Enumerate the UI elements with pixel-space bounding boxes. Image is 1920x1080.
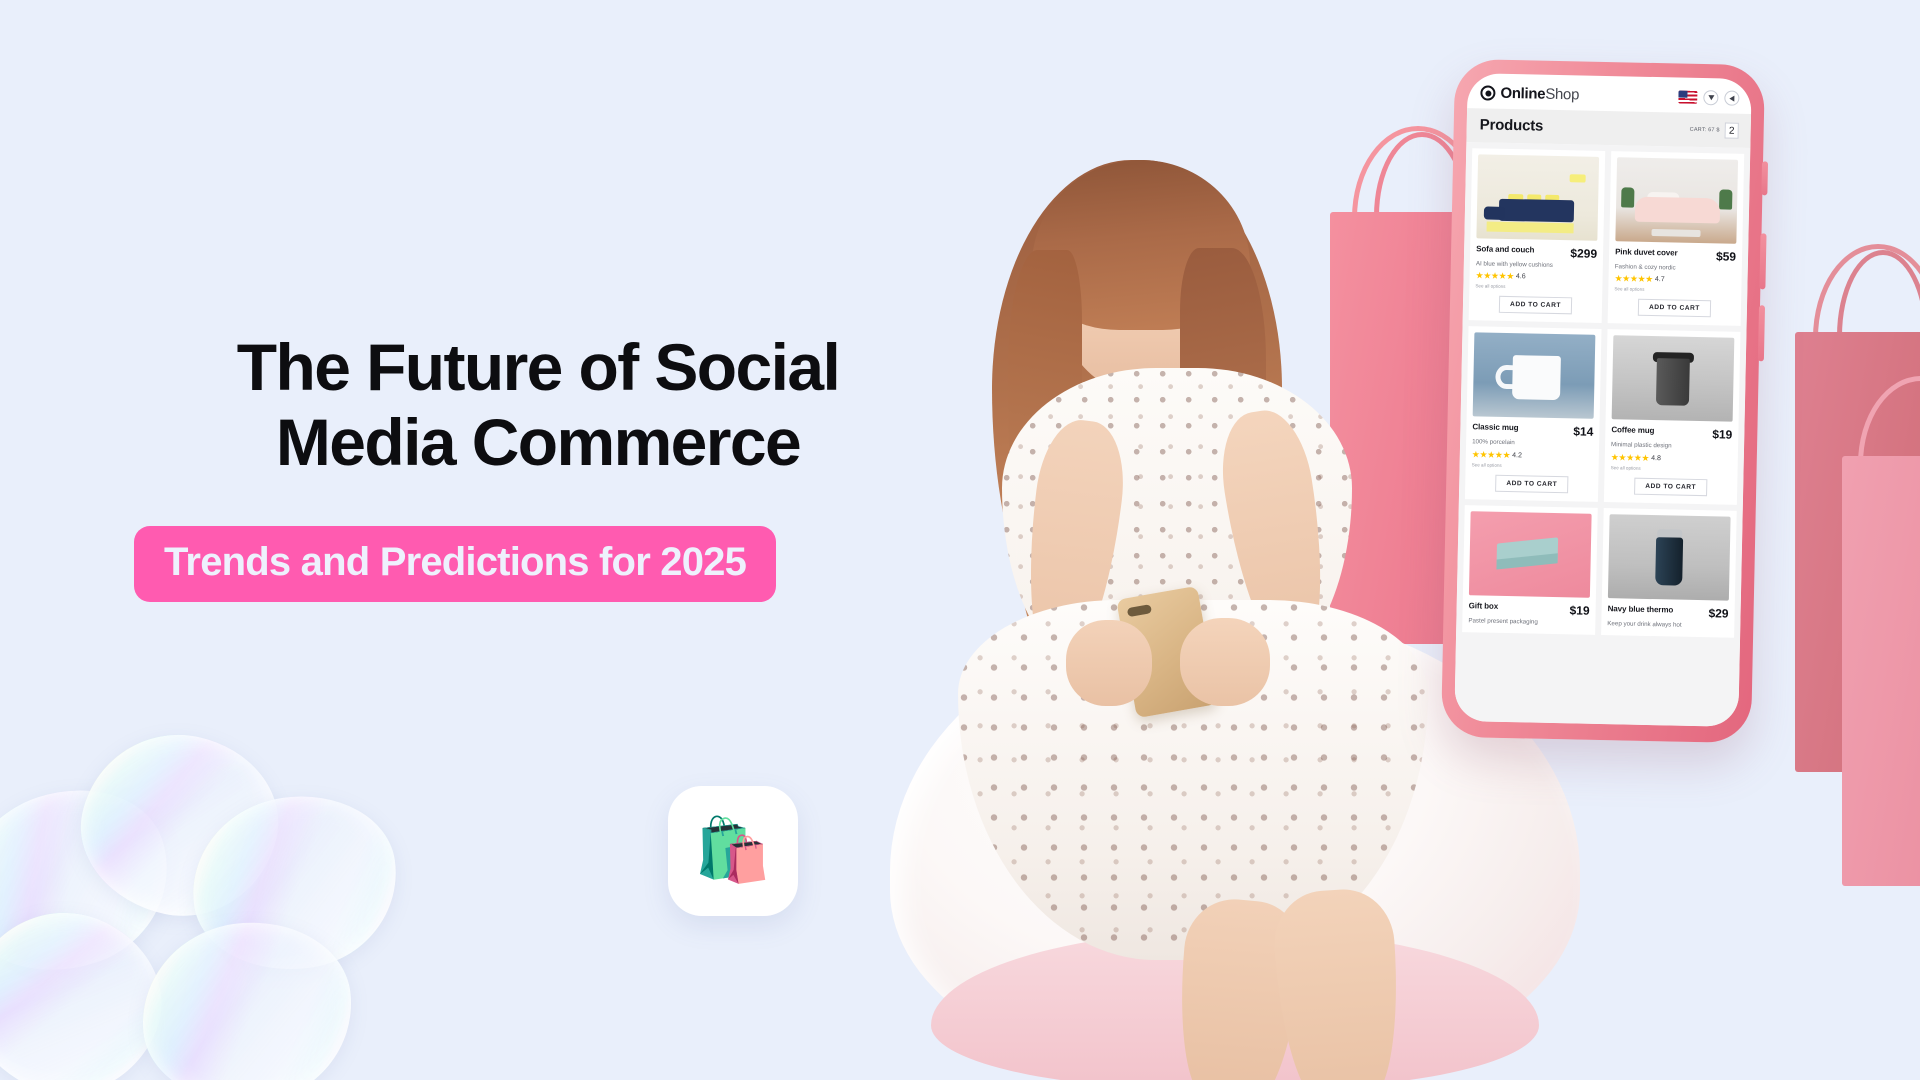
phone-mockup: OnlineShop Products CART: 67 $ 2 [1441, 59, 1765, 743]
product-card[interactable]: Navy blue thermo $29 Keep your drink alw… [1601, 508, 1737, 638]
product-reviews-link[interactable]: See all options [1611, 465, 1732, 473]
phone-mute-button[interactable] [1761, 161, 1768, 195]
product-description: Fashion & cozy nordic [1615, 263, 1736, 273]
rating-value: 4.8 [1651, 455, 1661, 462]
cart-count-badge: 2 [1725, 122, 1739, 138]
add-to-cart-button[interactable]: ADD TO CART [1499, 296, 1572, 315]
phone-camera [1127, 604, 1152, 617]
product-image [1476, 154, 1599, 241]
add-to-cart-button[interactable]: ADD TO CART [1495, 475, 1568, 494]
phone-volume-up-button[interactable] [1759, 233, 1766, 289]
product-card[interactable]: Sofa and couch $299 AI blue with yellow … [1469, 148, 1606, 323]
star-rating-icon: ★★★★★ [1475, 271, 1514, 283]
product-description: Minimal plastic design [1611, 442, 1732, 452]
product-description: Keep your drink always hot [1607, 620, 1728, 630]
product-rating: ★★★★★ 4.8 [1611, 452, 1732, 466]
rating-value: 4.7 [1655, 276, 1665, 283]
brand-name-bold: Online [1500, 85, 1545, 103]
product-card[interactable]: Gift box $19 Pastel present packaging [1462, 505, 1598, 635]
phone-screen: OnlineShop Products CART: 67 $ 2 [1454, 73, 1752, 727]
product-rating: ★★★★★ 4.2 [1472, 449, 1593, 463]
product-price: $19 [1712, 428, 1732, 442]
right-leg [1271, 886, 1405, 1080]
app-header-actions [1678, 90, 1739, 106]
star-rating-icon: ★★★★★ [1614, 274, 1653, 286]
rating-value: 4.6 [1516, 274, 1526, 281]
products-heading: Products [1480, 116, 1544, 134]
circle-dot-icon [1480, 85, 1495, 100]
product-card[interactable]: Pink duvet cover $59 Fashion & cozy nord… [1608, 151, 1745, 326]
star-rating-icon: ★★★★★ [1472, 449, 1511, 461]
us-flag-icon[interactable] [1678, 91, 1697, 104]
product-rating: ★★★★★ 4.7 [1614, 274, 1735, 288]
product-image [1612, 336, 1735, 423]
product-description: Pastel present packaging [1468, 617, 1589, 627]
product-reviews-link[interactable]: See all options [1472, 462, 1593, 470]
subtitle-badge: Trends and Predictions for 2025 [134, 526, 776, 602]
product-rating: ★★★★★ 4.6 [1475, 271, 1596, 285]
product-name: Navy blue thermo [1608, 604, 1674, 615]
product-price: $299 [1570, 246, 1597, 261]
glass-blob [133, 913, 361, 1080]
product-card[interactable]: Classic mug $14 100% porcelain ★★★★★ 4.2… [1465, 327, 1602, 502]
cart-summary[interactable]: CART: 67 $ 2 [1690, 122, 1739, 139]
product-image [1473, 333, 1596, 420]
bag-body [1842, 456, 1920, 886]
chevron-down-icon[interactable] [1703, 90, 1718, 105]
hero-banner: The Future of Social Media Commerce Tren… [0, 0, 1920, 1080]
shopping-bags-icon: 🛍️ [694, 820, 771, 882]
app-logo[interactable]: OnlineShop [1480, 84, 1579, 103]
product-description: 100% porcelain [1472, 439, 1593, 449]
product-reviews-link[interactable]: See all options [1475, 284, 1596, 292]
chevron-left-icon[interactable] [1724, 90, 1739, 105]
title-line-1: The Future of Social [128, 330, 948, 405]
add-to-cart-button[interactable]: ADD TO CART [1638, 299, 1711, 318]
page-title: The Future of Social Media Commerce [128, 330, 948, 479]
product-description: AI blue with yellow cushions [1476, 260, 1597, 270]
product-card[interactable]: Coffee mug $19 Minimal plastic design ★★… [1604, 330, 1741, 505]
product-name: Gift box [1469, 601, 1499, 611]
product-price: $59 [1716, 249, 1736, 263]
add-to-cart-button[interactable]: ADD TO CART [1634, 478, 1707, 497]
product-grid: Sofa and couch $299 AI blue with yellow … [1454, 142, 1750, 727]
right-hand [1180, 618, 1270, 706]
product-name: Classic mug [1472, 423, 1518, 433]
iridescent-glass-decoration [0, 735, 430, 1080]
cart-total-label: CART: 67 $ [1690, 127, 1720, 134]
product-reviews-link[interactable]: See all options [1614, 287, 1735, 295]
product-image [1615, 157, 1738, 244]
product-price: $14 [1573, 425, 1593, 439]
star-rating-icon: ★★★★★ [1611, 452, 1650, 464]
app-header: OnlineShop [1467, 73, 1752, 114]
left-hand [1066, 620, 1152, 706]
product-image [1469, 511, 1592, 598]
product-name: Sofa and couch [1476, 244, 1534, 254]
title-line-2: Media Commerce [128, 405, 948, 480]
product-price: $29 [1708, 606, 1728, 620]
product-price: $19 [1569, 603, 1589, 617]
product-image [1608, 514, 1731, 601]
shopping-bag-decoration [1842, 456, 1920, 886]
app-icon-card[interactable]: 🛍️ [668, 786, 798, 916]
rating-value: 4.2 [1512, 452, 1522, 459]
product-name: Coffee mug [1611, 426, 1654, 436]
product-name: Pink duvet cover [1615, 247, 1678, 257]
brand-name-light: Shop [1545, 86, 1579, 104]
phone-volume-down-button[interactable] [1758, 305, 1765, 361]
